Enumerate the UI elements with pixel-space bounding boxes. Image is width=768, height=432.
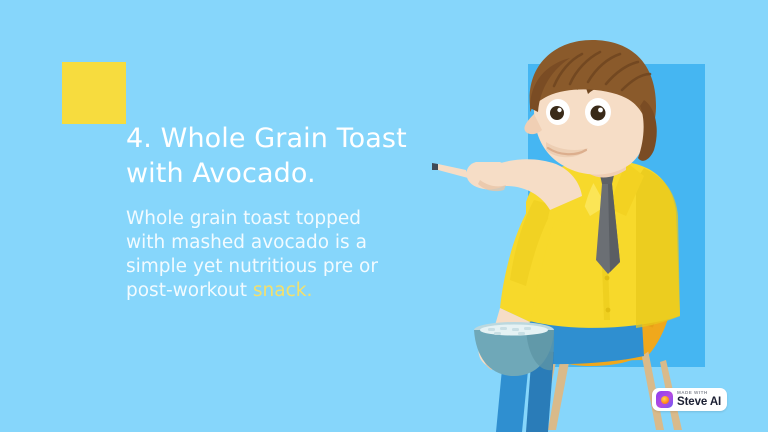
body-text-highlight: snack. xyxy=(253,280,312,301)
decorative-yellow-square xyxy=(62,62,126,124)
slide-body-text: Whole grain toast topped with mashed avo… xyxy=(126,207,426,303)
slide-canvas: 4. Whole Grain Toast with Avocado. Whole… xyxy=(0,0,768,432)
watermark-made-with: Made with xyxy=(677,391,721,396)
steve-ai-watermark[interactable]: Made with Steve AI xyxy=(652,388,727,411)
text-content-block: 4. Whole Grain Toast with Avocado. Whole… xyxy=(126,122,426,303)
steve-ai-logo-icon xyxy=(656,391,673,408)
slide-title: 4. Whole Grain Toast with Avocado. xyxy=(126,122,426,191)
watermark-text: Made with Steve AI xyxy=(677,391,721,408)
character-illustration xyxy=(430,30,768,432)
watermark-brand: Steve AI xyxy=(677,397,721,409)
